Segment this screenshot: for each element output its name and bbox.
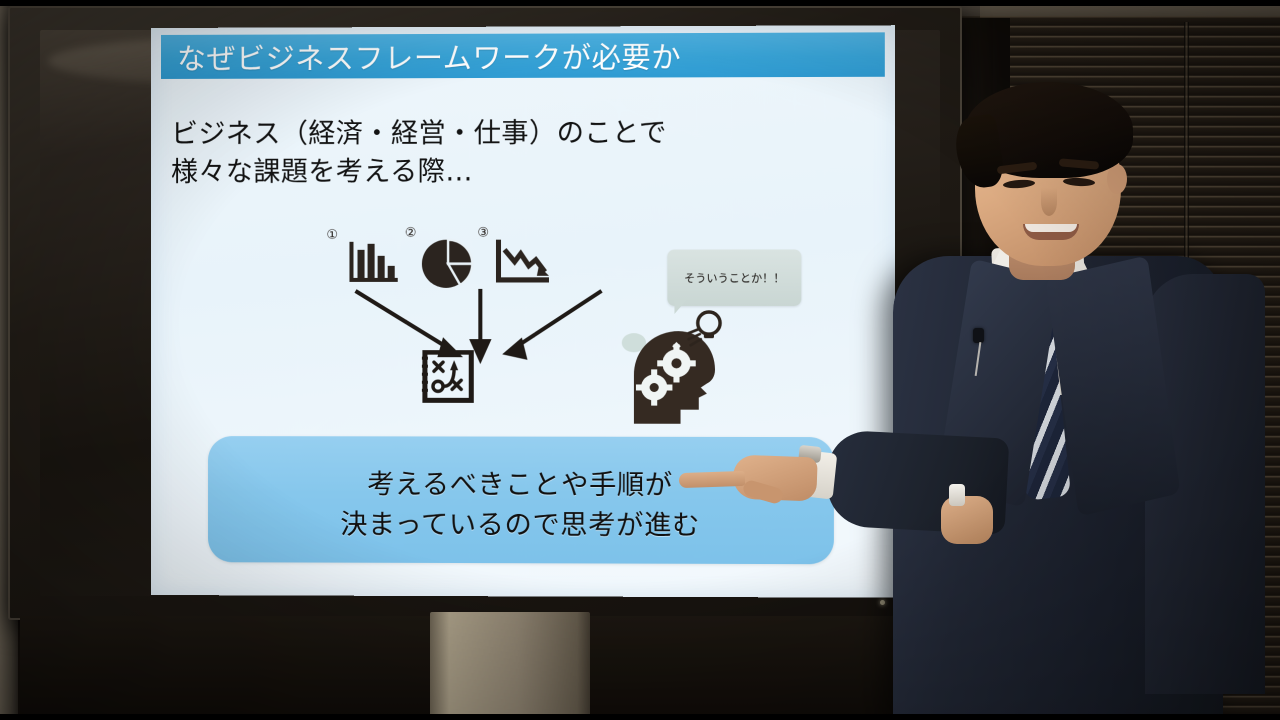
lead-line-2: 様々な課題を考える際…	[171, 153, 878, 193]
strategy-playbook-icon	[420, 350, 474, 404]
slide-lead-text: ビジネス（経済・経営・仕事）のことで 様々な課題を考える際…	[171, 114, 878, 192]
speech-bubble: そういうことか！！	[667, 249, 801, 305]
diagram-arrows	[331, 283, 634, 389]
speech-bubble-text: そういうことか！！	[684, 270, 784, 286]
presentation-slide: なぜビジネスフレームワークが必要か ビジネス（経済・経営・仕事）のことで 様々な…	[151, 25, 895, 598]
item-number-3: ③	[477, 226, 489, 241]
lightbulb-icon	[685, 307, 728, 351]
conclusion-line-2: 決まっているので思考が進む	[208, 502, 834, 543]
slide-title: なぜビジネスフレームワークが必要か	[161, 34, 681, 78]
thinker-figure	[614, 323, 736, 429]
cloud-lobe	[151, 278, 311, 414]
lead-line-1: ビジネス（経済・経営・仕事）のことで	[171, 114, 878, 154]
conclusion-box: 考えるべきことや手順が 決まっているので思考が進む	[208, 436, 834, 564]
letterbox-top	[0, 0, 1280, 6]
presenter-remote-icon	[949, 484, 965, 506]
letterbox-bottom	[0, 714, 1280, 720]
item-number-2: ②	[405, 226, 417, 241]
display-stand-pedestal	[430, 612, 590, 720]
presenter-teeth	[1025, 224, 1077, 232]
screenshot-scene: SHARP なぜビジネスフレームワークが必要か ビジネス（経済・経営・仕事）のこ…	[0, 0, 1280, 720]
presenter-nose	[1041, 188, 1057, 216]
presenter-pointing-finger	[679, 471, 745, 488]
slide-title-bar: なぜビジネスフレームワークが必要か	[161, 32, 885, 79]
lapel-microphone-icon	[973, 328, 984, 343]
presenter-mouth	[1023, 224, 1079, 240]
presenter	[845, 60, 1280, 720]
item-number-1: ①	[326, 228, 338, 243]
presenter-ear	[1107, 164, 1127, 194]
